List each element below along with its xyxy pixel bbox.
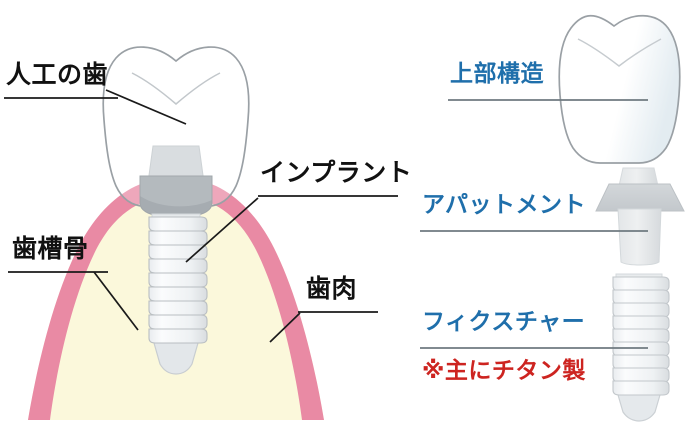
label-gingiva: 歯肉 (306, 276, 357, 301)
crown-solid (559, 16, 680, 163)
label-fixture-note: ※主にチタン製 (422, 360, 586, 383)
label-alveolar-bone: 歯槽骨 (12, 236, 89, 261)
label-fixture: フィクスチャー (422, 311, 585, 334)
label-abutment: アパットメント (422, 194, 586, 217)
label-superstructure: 上部構造 (450, 63, 544, 86)
abutment-with-collar (596, 168, 684, 265)
label-artificial-tooth: 人工の歯 (6, 62, 108, 87)
label-implant: インプラント (260, 160, 412, 185)
